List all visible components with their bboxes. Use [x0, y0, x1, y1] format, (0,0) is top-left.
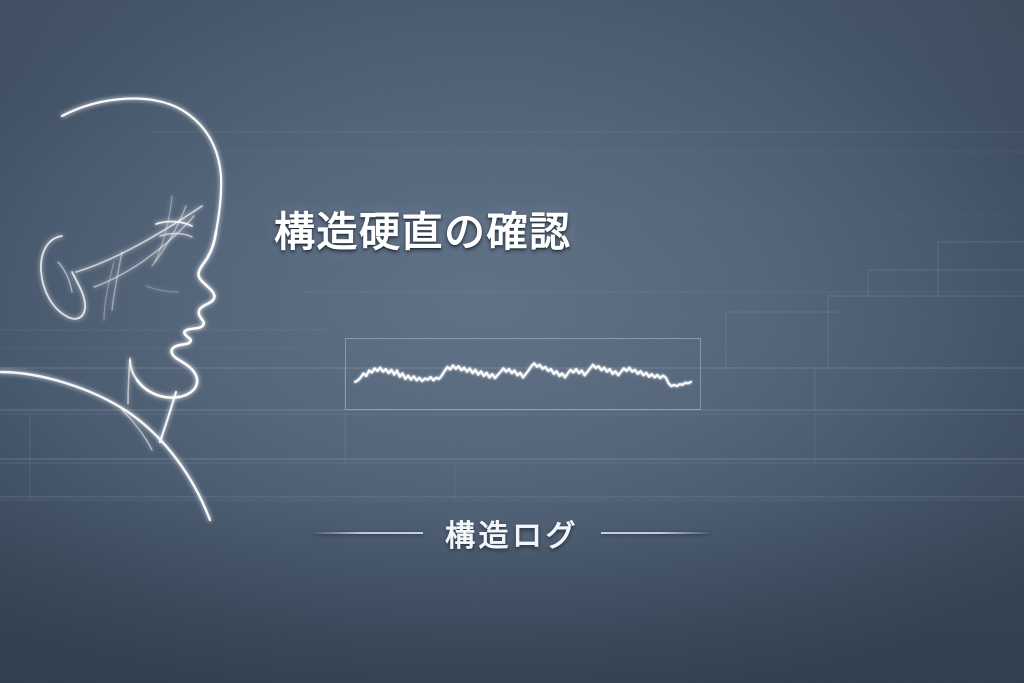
slide-canvas: 構造硬直の確認 構造ログ — [0, 0, 1024, 683]
caption-rule-left — [315, 532, 423, 534]
caption-block: 構造ログ — [0, 505, 1024, 561]
caption-label: 構造ログ — [445, 511, 579, 555]
waveform-panel — [345, 338, 701, 410]
caption-rule-right — [601, 532, 709, 534]
page-title: 構造硬直の確認 — [274, 198, 572, 258]
